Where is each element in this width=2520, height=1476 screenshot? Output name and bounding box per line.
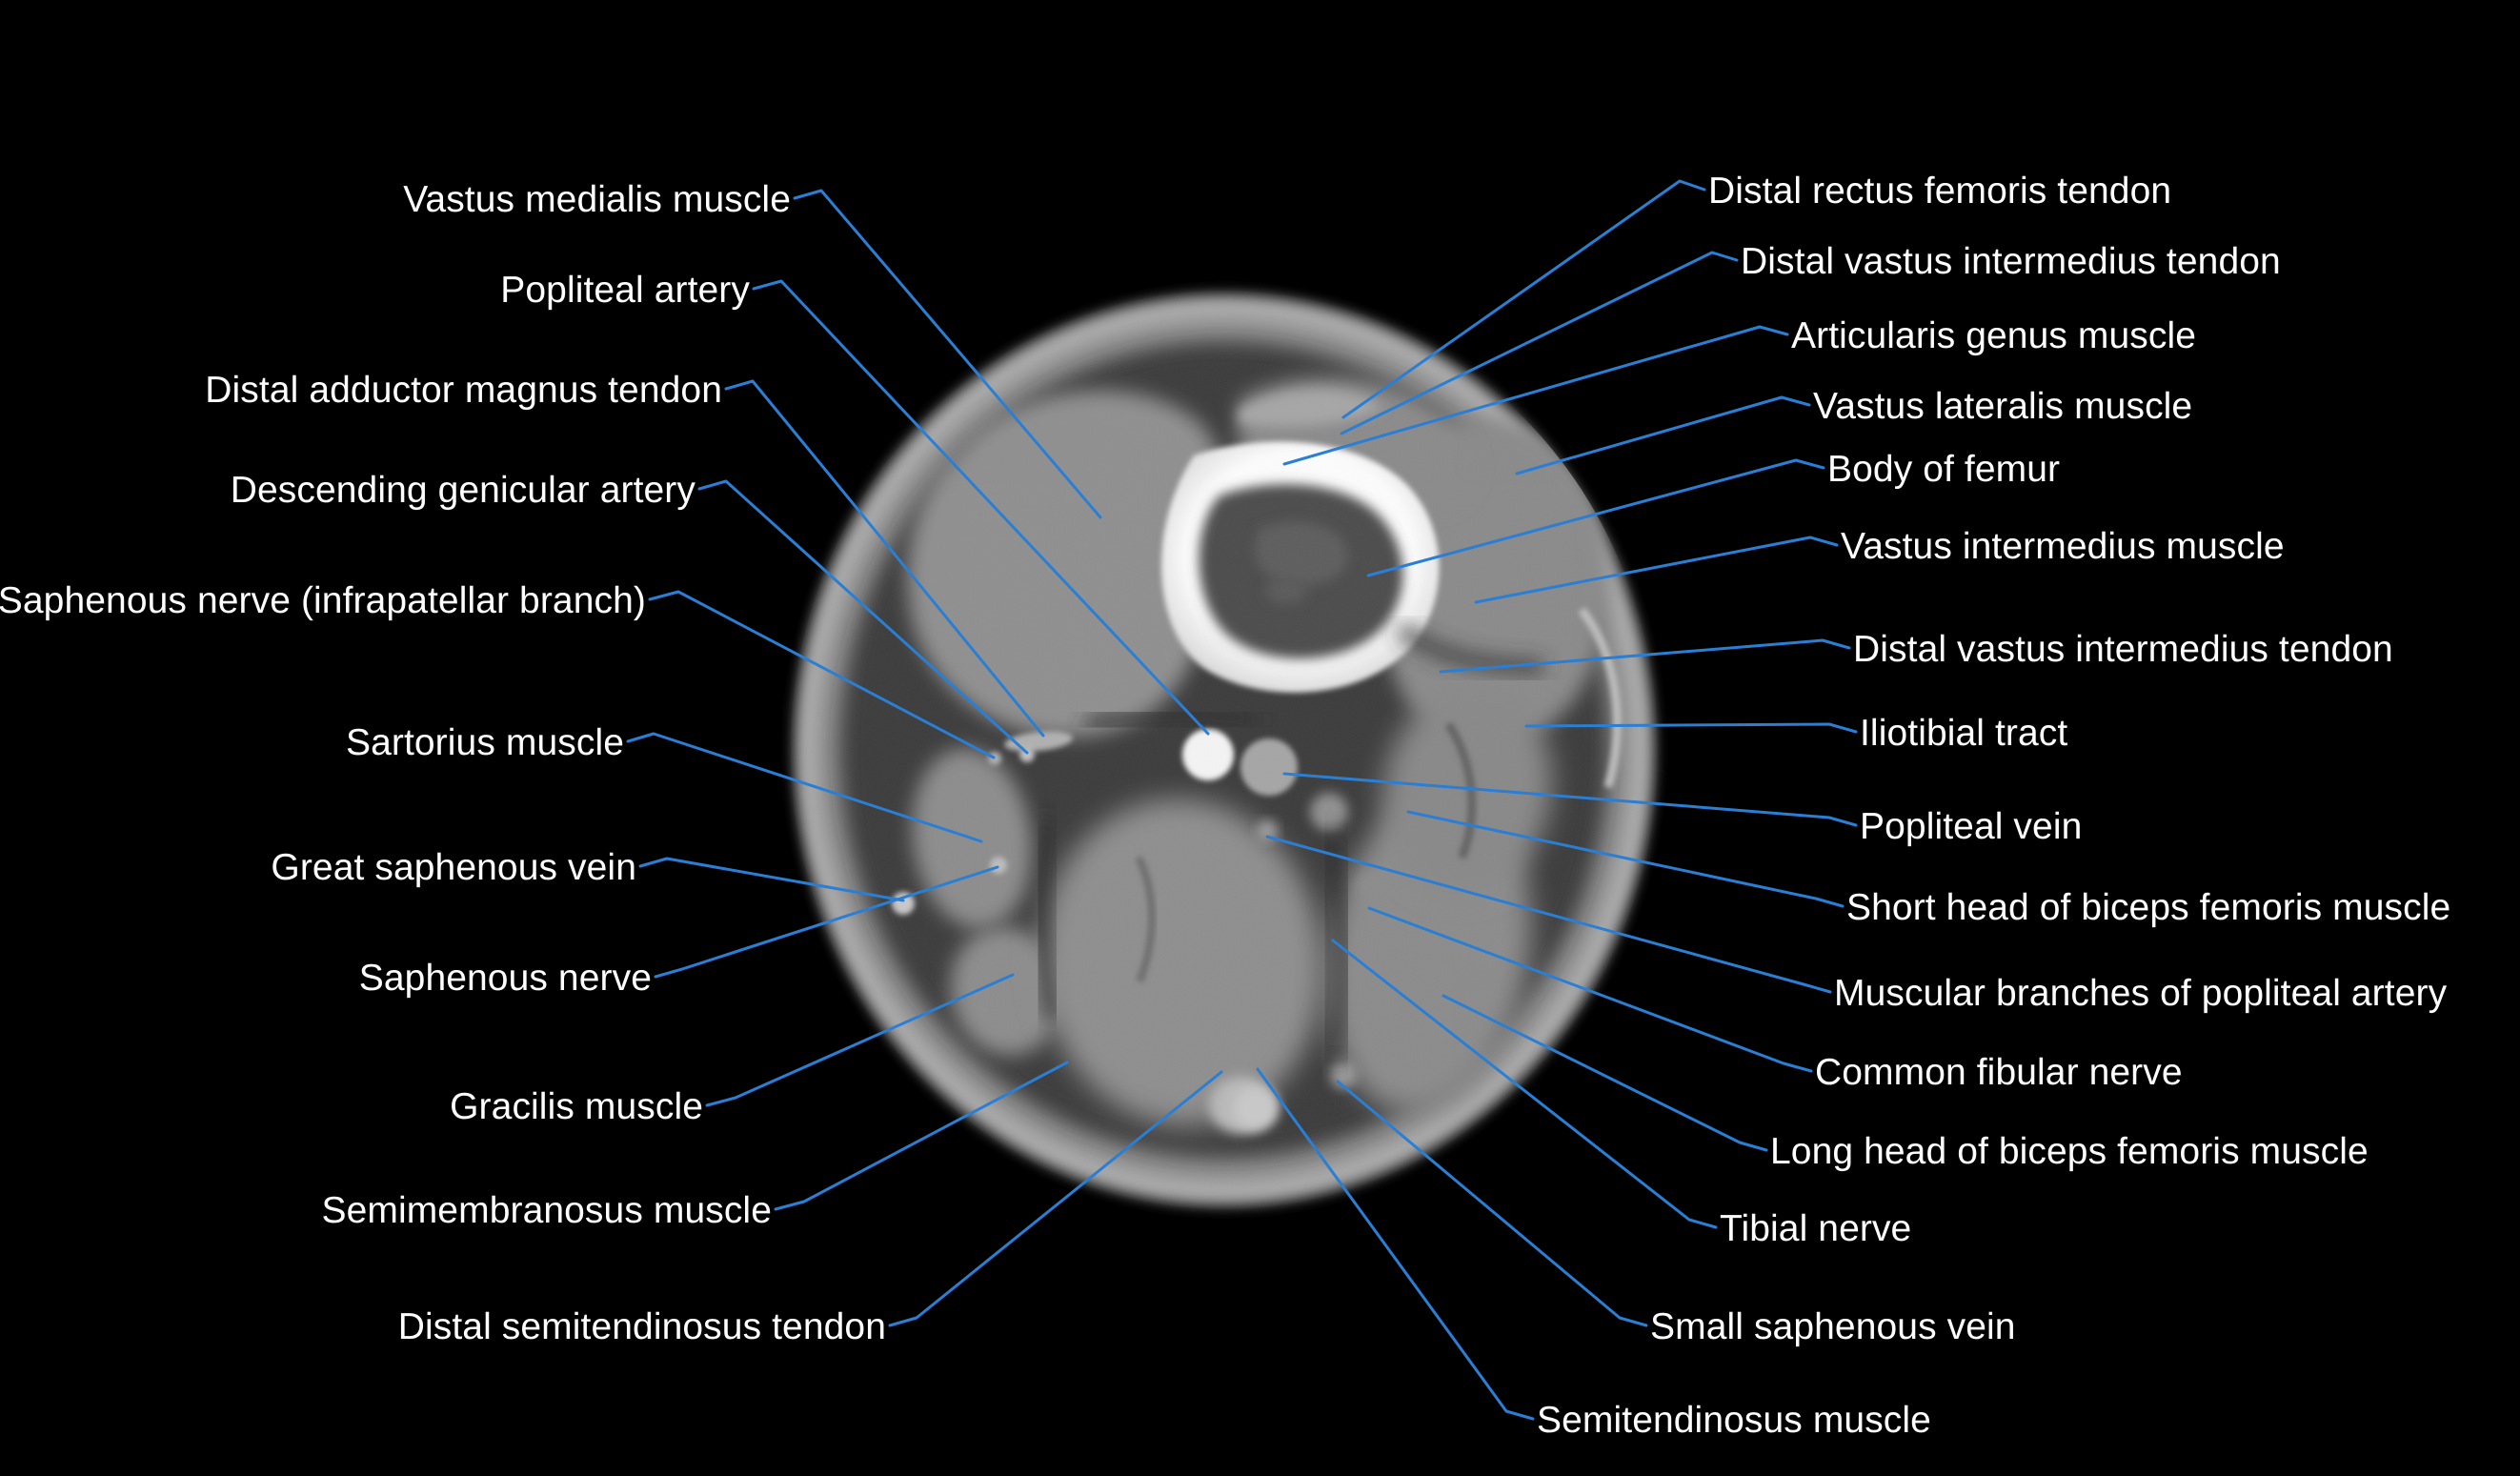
leader-distal-rectus-femoris-tendon bbox=[1343, 181, 1704, 417]
leader-vastus-medialis-muscle bbox=[795, 191, 1100, 517]
leader-saphenous-nerve bbox=[655, 867, 998, 977]
label-semitendinosus-muscle: Semitendinosus muscle bbox=[1537, 1402, 1931, 1439]
label-saphenous-nerve: Saphenous nerve bbox=[359, 960, 652, 997]
leader-descending-genicular-artery bbox=[699, 481, 1027, 753]
label-muscular-branches-popliteal-artery: Muscular branches of popliteal artery bbox=[1834, 975, 2447, 1012]
label-body-of-femur: Body of femur bbox=[1827, 451, 2060, 488]
leader-tibial-nerve bbox=[1333, 940, 1716, 1227]
label-distal-vastus-intermedius-tendon-1: Distal vastus intermedius tendon bbox=[1741, 243, 2281, 280]
leader-semitendinosus-muscle bbox=[1258, 1069, 1533, 1419]
label-small-saphenous-vein: Small saphenous vein bbox=[1650, 1308, 2016, 1345]
label-descending-genicular-artery: Descending genicular artery bbox=[231, 472, 696, 509]
label-saphenous-nerve-infrapatellar: Saphenous nerve (infrapatellar branch) bbox=[0, 582, 646, 619]
label-vastus-medialis-muscle: Vastus medialis muscle bbox=[403, 181, 791, 218]
leader-common-fibular-nerve bbox=[1369, 908, 1811, 1071]
label-long-head-biceps-femoris: Long head of biceps femoris muscle bbox=[1770, 1133, 2369, 1170]
leader-distal-adductor-magnus-tendon bbox=[726, 381, 1043, 736]
label-iliotibial-tract: Iliotibial tract bbox=[1860, 715, 2067, 752]
label-sartorius-muscle: Sartorius muscle bbox=[346, 724, 624, 761]
label-great-saphenous-vein: Great saphenous vein bbox=[271, 849, 636, 886]
label-distal-semitendinosus-tendon: Distal semitendinosus tendon bbox=[398, 1308, 886, 1345]
leader-vastus-lateralis-muscle bbox=[1517, 397, 1809, 474]
leader-vastus-intermedius-muscle bbox=[1476, 537, 1837, 602]
leader-articularis-genus-muscle bbox=[1284, 327, 1787, 464]
leader-popliteal-vein bbox=[1284, 774, 1856, 825]
label-short-head-biceps-femoris: Short head of biceps femoris muscle bbox=[1846, 889, 2450, 926]
label-popliteal-artery: Popliteal artery bbox=[500, 272, 750, 309]
label-popliteal-vein: Popliteal vein bbox=[1860, 808, 2082, 845]
figure-canvas: Vastus medialis musclePopliteal arteryDi… bbox=[0, 0, 2520, 1476]
leader-iliotibial-tract bbox=[1526, 724, 1856, 732]
label-semimembranosus-muscle: Semimembranosus muscle bbox=[321, 1192, 772, 1229]
label-distal-vastus-intermedius-tendon-2: Distal vastus intermedius tendon bbox=[1853, 631, 2393, 668]
leader-small-saphenous-vein bbox=[1338, 1082, 1646, 1325]
label-common-fibular-nerve: Common fibular nerve bbox=[1815, 1054, 2183, 1091]
label-vastus-intermedius-muscle: Vastus intermedius muscle bbox=[1841, 528, 2285, 565]
leader-semimembranosus-muscle bbox=[776, 1062, 1067, 1209]
leader-body-of-femur bbox=[1368, 460, 1824, 576]
leader-sartorius-muscle bbox=[628, 734, 981, 841]
label-articularis-genus-muscle: Articularis genus muscle bbox=[1791, 317, 2196, 354]
leader-gracilis-muscle bbox=[707, 975, 1013, 1105]
leader-distal-semitendinosus-tendon bbox=[890, 1072, 1221, 1325]
leader-distal-vastus-intermedius-tendon-2 bbox=[1441, 640, 1849, 672]
label-distal-rectus-femoris-tendon: Distal rectus femoris tendon bbox=[1708, 172, 2171, 210]
leader-great-saphenous-vein bbox=[640, 859, 903, 900]
label-tibial-nerve: Tibial nerve bbox=[1720, 1210, 1911, 1247]
label-distal-adductor-magnus-tendon: Distal adductor magnus tendon bbox=[205, 372, 722, 409]
label-gracilis-muscle: Gracilis muscle bbox=[450, 1088, 703, 1125]
leader-long-head-biceps-femoris bbox=[1443, 996, 1766, 1150]
label-vastus-lateralis-muscle: Vastus lateralis muscle bbox=[1813, 388, 2192, 425]
leader-muscular-branches-popliteal-artery bbox=[1267, 837, 1830, 992]
